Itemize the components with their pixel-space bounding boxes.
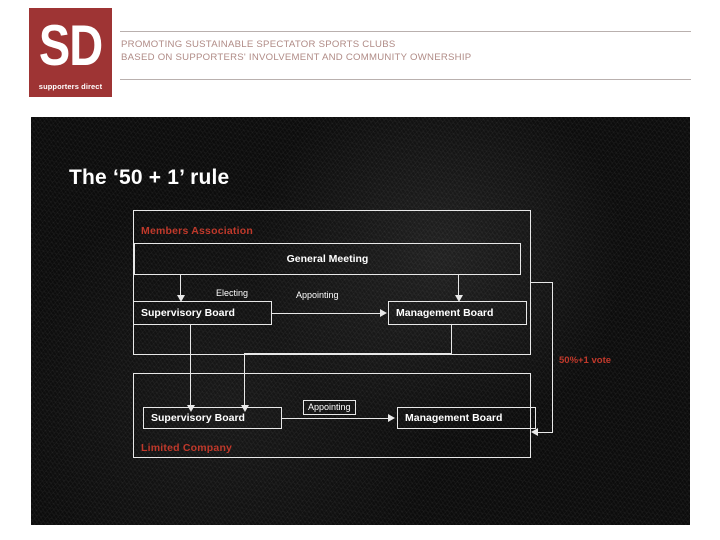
edge-label-appointing-upper: Appointing — [296, 290, 339, 300]
logo-tagline: supporters direct — [29, 82, 112, 91]
strapline-line-1: PROMOTING SUSTAINABLE SPECTATOR SPORTS C… — [121, 38, 696, 51]
edge-ma-supervisory-to-management — [272, 313, 381, 314]
supporters-direct-logo: SD supporters direct — [29, 8, 112, 97]
edge-ma-management-to-lc-supervisory — [244, 353, 245, 407]
control-line-top — [531, 282, 552, 283]
page-title: The ‘50 + 1’ rule — [69, 166, 229, 190]
edge-label-electing: Electing — [216, 288, 248, 298]
header-strapline: PROMOTING SUSTAINABLE SPECTATOR SPORTS C… — [121, 38, 696, 64]
edge-ma-management-down — [451, 325, 452, 353]
node-lc-supervisory-board: Supervisory Board — [143, 407, 282, 429]
arrowhead-control-line-to-lc-management — [531, 428, 538, 436]
slide-canvas: The ‘50 + 1’ rule Members Association Ge… — [31, 117, 690, 525]
edge-label-appointing-lower: Appointing — [303, 400, 356, 415]
node-lc-management-board: Management Board — [397, 407, 536, 429]
node-ma-supervisory-board: Supervisory Board — [133, 301, 272, 325]
logo-mark: SD — [39, 16, 102, 73]
edge-ma-supervisory-to-lc-supervisory — [190, 325, 191, 407]
group-label-limited-company: Limited Company — [141, 442, 232, 454]
node-ma-management-board: Management Board — [388, 301, 527, 325]
control-line-bottom — [538, 432, 553, 433]
page-header: SD supporters direct PROMOTING SUSTAINAB… — [0, 0, 720, 117]
edge-ma-management-across — [244, 353, 452, 354]
node-general-meeting: General Meeting — [134, 243, 521, 275]
arrowhead-lc-supervisory-to-management — [388, 414, 395, 422]
arrowhead-ma-supervisory-to-management — [380, 309, 387, 317]
strapline-line-2: BASED ON SUPPORTERS' INVOLVEMENT AND COM… — [121, 51, 696, 64]
control-line-vertical — [552, 282, 553, 432]
group-label-members-association: Members Association — [141, 225, 253, 237]
annotation-vote-threshold: 50%+1 vote — [559, 355, 611, 366]
header-rule-bottom — [120, 79, 691, 80]
header-rule-top — [120, 31, 691, 32]
edge-lc-supervisory-to-management — [282, 418, 389, 419]
